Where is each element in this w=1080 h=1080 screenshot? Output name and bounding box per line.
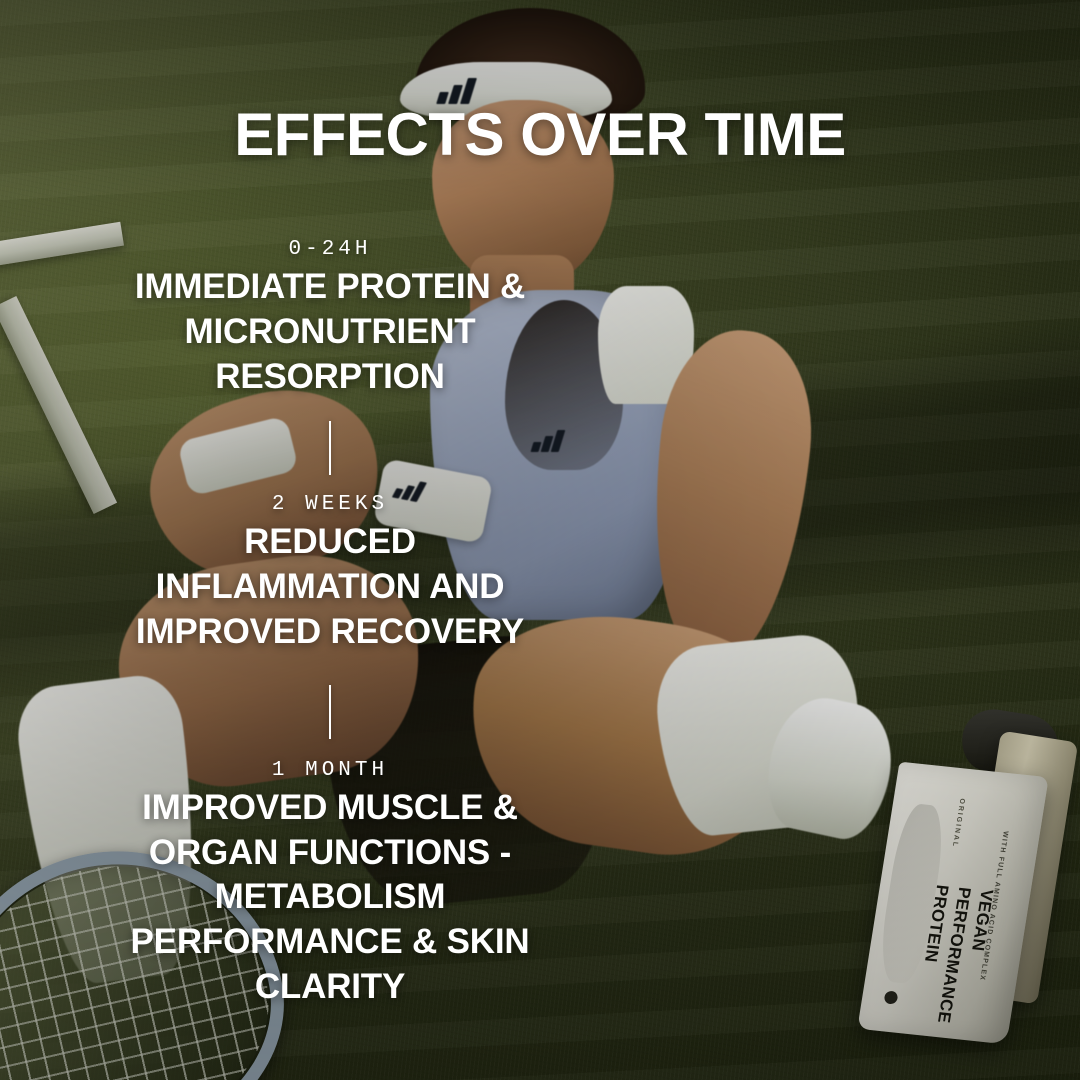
timeline-divider [329, 421, 331, 475]
stage-description: REDUCED INFLAMMATION AND IMPROVED RECOVE… [130, 520, 530, 654]
promo-graphic: ORIGINAL WITH FULL AMINO ACID COMPLEX VE… [0, 0, 1080, 1080]
text-overlay: EFFECTS OVER TIME 0-24H IMMEDIATE PROTEI… [0, 0, 1080, 1080]
timeline-stage-0-24h: 0-24H IMMEDIATE PROTEIN & MICRONUTRIENT … [130, 238, 530, 399]
stage-time-label: 1 MONTH [130, 759, 530, 782]
timeline-stage-1-month: 1 MONTH IMPROVED MUSCLE & ORGAN FUNCTION… [130, 759, 530, 1010]
stage-description: IMMEDIATE PROTEIN & MICRONUTRIENT RESORP… [130, 265, 530, 399]
stage-description: IMPROVED MUSCLE & ORGAN FUNCTIONS - META… [130, 786, 530, 1010]
timeline-divider [329, 685, 331, 739]
page-title: EFFECTS OVER TIME [0, 104, 1080, 165]
effects-timeline: 0-24H IMMEDIATE PROTEIN & MICRONUTRIENT … [130, 238, 530, 1010]
stage-time-label: 0-24H [130, 238, 530, 261]
timeline-stage-2-weeks: 2 WEEKS REDUCED INFLAMMATION AND IMPROVE… [130, 493, 530, 654]
stage-time-label: 2 WEEKS [130, 493, 530, 516]
